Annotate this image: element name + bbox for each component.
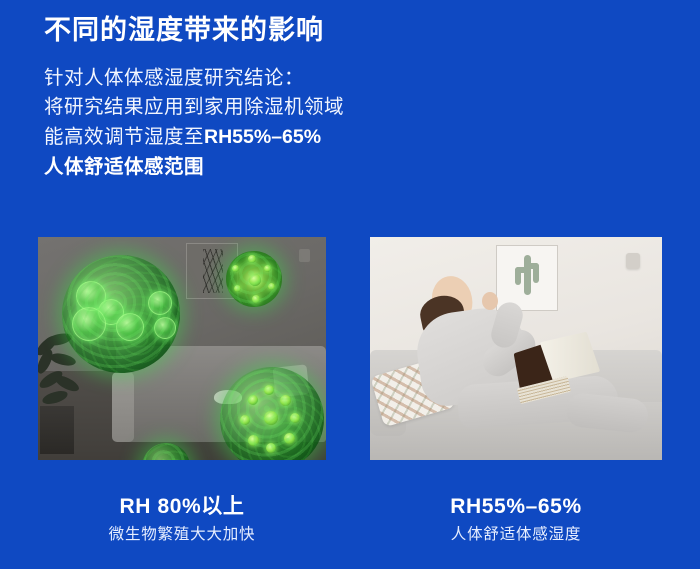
- mold-cell: [116, 313, 144, 341]
- mold-spore: [248, 435, 259, 446]
- body-copy-line-3: 能高效调节湿度至RH55%–65%: [44, 123, 664, 153]
- cactus-wall-art-icon: [496, 245, 558, 311]
- mold-spore: [268, 283, 275, 290]
- dim-room-scene: [38, 237, 326, 460]
- mold-cell: [76, 281, 106, 311]
- mold-spore: [240, 415, 250, 425]
- mold-spore: [264, 265, 271, 272]
- mold-spore: [248, 395, 258, 405]
- mold-sphere-small-top: [226, 251, 282, 307]
- mold-cell: [98, 299, 124, 325]
- mold-cell: [148, 291, 172, 315]
- plant-leaf: [41, 389, 69, 405]
- panel-captions: RH 80%以上 微生物繁殖大大加快 RH55%–65% 人体舒适体感湿度: [0, 494, 700, 564]
- body-copy-line-3-text: 能高效调节湿度至: [44, 126, 204, 148]
- header-text-block: 不同的湿度带来的影响 针对人体体感湿度研究结论： 将研究结果应用到家用除湿机领域…: [44, 14, 664, 182]
- mold-spore: [280, 395, 291, 406]
- mold-sphere-bottom: [220, 367, 324, 460]
- woman-hand: [482, 292, 498, 310]
- mold-spore-core: [264, 411, 278, 425]
- body-copy-line-2: 将研究结果应用到家用除湿机领域: [44, 93, 664, 123]
- caption-right-main: RH55%–65%: [370, 494, 662, 520]
- mold-spore: [234, 285, 241, 292]
- caption-left-sub: 微生物繁殖大大加快: [38, 526, 326, 545]
- mold-spore: [248, 255, 256, 263]
- caption-left: RH 80%以上 微生物繁殖大大加快: [38, 494, 326, 545]
- caption-right-sub: 人体舒适体感湿度: [370, 526, 662, 545]
- wall-switch-icon: [299, 249, 310, 262]
- mold-cell: [72, 307, 106, 341]
- sofa-armrest: [112, 372, 134, 442]
- mold-cell: [154, 317, 176, 339]
- humidity-range-highlight: RH55%–65%: [204, 126, 321, 148]
- caption-left-main: RH 80%以上: [38, 494, 326, 520]
- plant-pot: [40, 406, 74, 454]
- humidity-infographic-page: { "theme": { "background_color": "#0F49C…: [0, 0, 700, 569]
- mold-sphere-large: [62, 255, 180, 373]
- bright-room-scene: [370, 237, 662, 460]
- panel-image-right-comfort-room: [370, 237, 662, 460]
- mold-spore-core: [249, 274, 261, 286]
- body-copy-line-4: 人体舒适体感范围: [44, 153, 664, 183]
- mold-spore: [232, 265, 239, 272]
- body-copy-line-1: 针对人体体感湿度研究结论：: [44, 64, 664, 94]
- body-copy: 针对人体体感湿度研究结论： 将研究结果应用到家用除湿机领域 能高效调节湿度至RH…: [44, 64, 664, 183]
- mold-spore: [252, 295, 260, 303]
- comparison-panels: [0, 237, 700, 461]
- mold-spore: [290, 413, 300, 423]
- page-title: 不同的湿度带来的影响: [44, 14, 664, 48]
- mold-spore: [264, 385, 274, 395]
- caption-right: RH55%–65% 人体舒适体感湿度: [370, 494, 662, 545]
- panel-image-left-mold-room: [38, 237, 326, 460]
- mold-spore: [266, 443, 276, 453]
- plant-leaf: [49, 350, 77, 368]
- mold-spore: [284, 433, 295, 444]
- cactus-icon: [515, 255, 539, 295]
- thermostat-icon: [626, 253, 640, 269]
